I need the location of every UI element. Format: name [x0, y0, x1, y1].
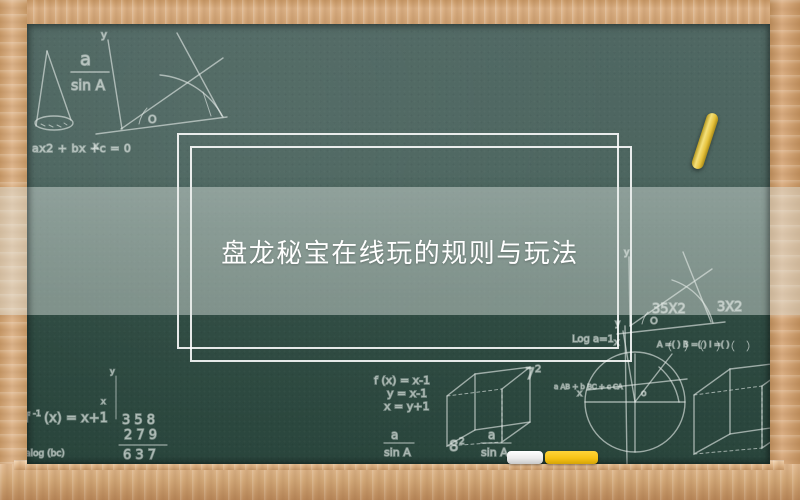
- svg-text:y = x-1: y = x-1: [387, 387, 427, 400]
- svg-text:sin A: sin A: [481, 446, 508, 459]
- fraction-a-over-sinA-topleft: a sin A: [71, 49, 109, 94]
- svg-text:sin A: sin A: [71, 78, 106, 94]
- svg-text:o: o: [641, 389, 647, 399]
- svg-text:f: f: [27, 411, 30, 426]
- log-product-text: alog (bc): [27, 449, 65, 459]
- svg-text:2: 2: [535, 364, 541, 375]
- frame-top-rail: [0, 0, 800, 24]
- chalkboard-title-card: a sin A ax2 + bx +c = 0 y x: [0, 0, 800, 500]
- svg-text:2 7 9: 2 7 9: [124, 428, 157, 443]
- matrix-row-group: A =( ) B =( ) I =( ): [657, 340, 749, 351]
- quadratic-equation-text: ax2 + bx +c = 0: [32, 142, 131, 155]
- svg-text:x: x: [93, 141, 99, 152]
- svg-text:O: O: [650, 316, 658, 327]
- svg-text:a: a: [80, 49, 91, 70]
- svg-text:x: x: [101, 397, 106, 406]
- vector-expression-text: a AB + b BC + c CA: [554, 383, 623, 391]
- svg-text:(x) = x+1: (x) = x+1: [44, 411, 108, 426]
- svg-text:y: y: [110, 367, 115, 376]
- cube-figure-right: [694, 361, 770, 454]
- svg-text:f (x) = x-1: f (x) = x-1: [374, 374, 430, 387]
- function-block: f (x) = x-1 y = x-1 x = y+1: [374, 374, 430, 413]
- chalk-yellow-icon: [545, 451, 598, 464]
- fraction-a-over-sinA-bottomleft: a sin A: [384, 428, 414, 459]
- cone-figure: [35, 51, 73, 130]
- svg-text:a: a: [488, 428, 495, 442]
- svg-text:a: a: [391, 428, 398, 442]
- long-division-group: 3 5 8 2 7 9 6 3 7 y x: [101, 367, 167, 463]
- svg-text:6 3 7: 6 3 7: [123, 448, 156, 463]
- svg-text:-1: -1: [33, 409, 41, 418]
- svg-text:y: y: [101, 30, 107, 41]
- chalk-white-icon: [507, 451, 543, 464]
- svg-text:x = y+1: x = y+1: [384, 400, 429, 413]
- svg-text:O: O: [148, 113, 157, 126]
- svg-text:3 5 8: 3 5 8: [122, 413, 155, 428]
- svg-text:sin A: sin A: [384, 446, 411, 459]
- page-title: 盘龙秘宝在线玩的规则与玩法: [0, 187, 800, 315]
- inverse-expression-group: f -1 (x) = x+1: [27, 409, 108, 426]
